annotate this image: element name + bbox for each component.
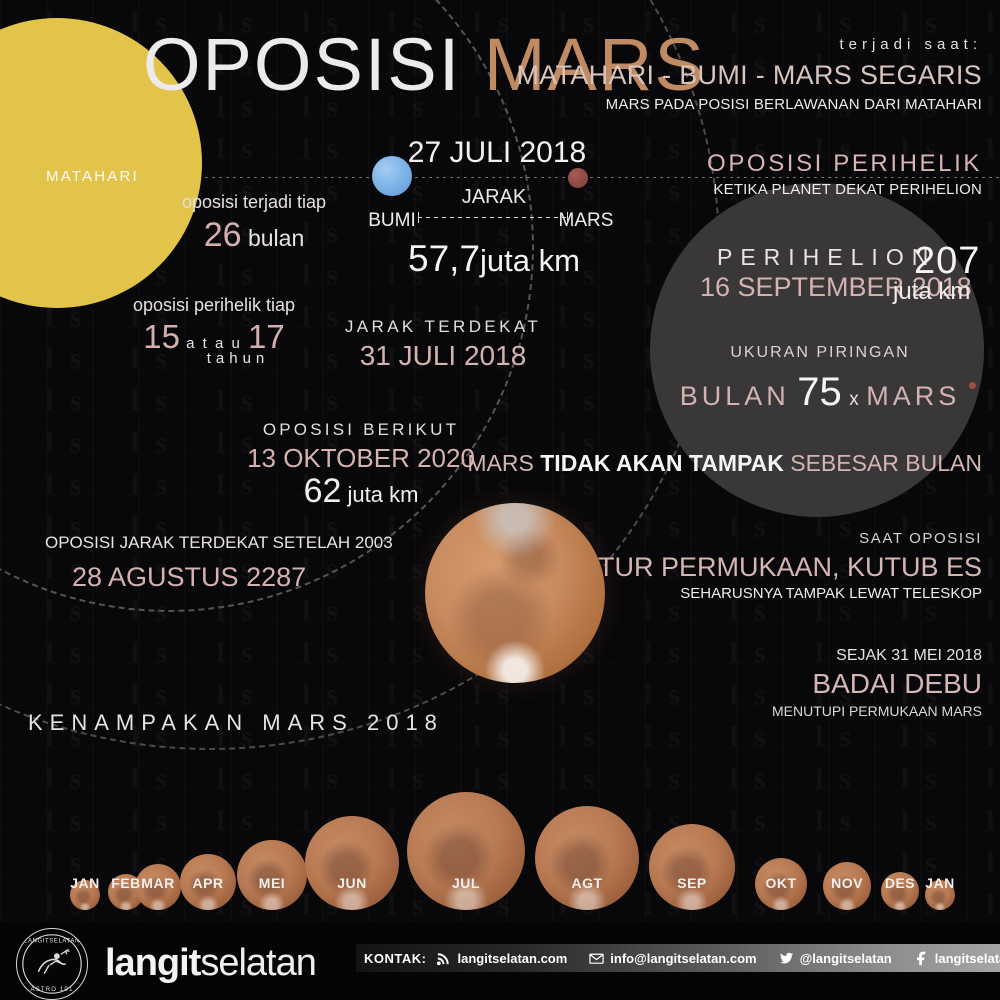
oposisi-berikut-title: OPOSISI BERIKUT bbox=[263, 420, 459, 440]
langitselatan-logo-icon[interactable]: LANGITSELATAN ASTRO 101 bbox=[16, 928, 88, 1000]
header-eyebrow: terjadi saat: bbox=[839, 36, 982, 53]
perihelik-title: OPOSISI PERIHELIK bbox=[707, 150, 982, 178]
month-label-jul-6: JUL bbox=[452, 875, 480, 891]
oposisi-tiap-unit: bulan bbox=[248, 225, 304, 251]
distance-label: JARAK bbox=[462, 186, 526, 209]
perihelik-number-one: 15 bbox=[143, 318, 180, 355]
kontak-label: KONTAK: bbox=[356, 951, 436, 966]
tampak-word-two: TIDAK AKAN TAMPAK bbox=[540, 450, 790, 476]
mars-disc-jun-5 bbox=[305, 816, 399, 910]
contact-link-text: langitselatan bbox=[935, 951, 1000, 966]
perihelik-tiap-label: oposisi perihelik tiap bbox=[133, 295, 295, 316]
mars-disc-jul-6 bbox=[407, 792, 525, 910]
rss-icon bbox=[436, 951, 451, 966]
distance-value-group: 57,7juta km bbox=[408, 238, 580, 280]
contact-link-email[interactable]: info@langitselatan.com bbox=[589, 951, 756, 966]
sun-label: MATAHARI bbox=[46, 168, 139, 185]
contact-link-facebook[interactable]: langitselatan bbox=[914, 951, 1000, 966]
month-label-mei-4: MEI bbox=[259, 875, 285, 891]
ukuran-bulan-label: BULAN bbox=[680, 381, 790, 411]
ukuran-mars-label: MARS bbox=[866, 381, 960, 411]
title-part-one: OPOSISI bbox=[143, 23, 461, 106]
logo-ring-top-text: LANGITSELATAN bbox=[24, 939, 80, 945]
perihelion-unit: juta km bbox=[893, 278, 970, 306]
facebook-icon bbox=[914, 951, 929, 966]
ukuran-times-sign: x bbox=[849, 389, 859, 410]
earth-disc bbox=[372, 156, 412, 196]
tampak-statement: MARS TIDAK AKAN TAMPAK SEBESAR BULAN bbox=[467, 450, 982, 477]
tampak-word-one: MARS bbox=[467, 450, 540, 476]
badai-headline: BADAI DEBU bbox=[812, 668, 982, 700]
month-label-nov-10: NOV bbox=[831, 875, 863, 891]
month-label-jan-0: JAN bbox=[70, 875, 100, 891]
contact-link-text: @langitselatan bbox=[800, 951, 892, 966]
brand-wordmark: langitselatan bbox=[105, 944, 316, 982]
contact-bar: KONTAK: langitselatan.cominfo@langitsela… bbox=[356, 944, 1000, 972]
month-label-mar-2: MAR bbox=[141, 875, 174, 891]
email-icon bbox=[589, 951, 604, 966]
measure-dashes bbox=[418, 217, 568, 218]
fitur-eyebrow: SAAT OPOSISI bbox=[859, 530, 982, 547]
month-label-jan-12: JAN bbox=[925, 875, 955, 891]
header-note: MARS PADA POSISI BERLAWANAN DARI MATAHAR… bbox=[606, 96, 982, 113]
badai-note: MENUTUPI PERMUKAAN MARS bbox=[772, 703, 982, 719]
jarak-terdekat-date: 31 JULI 2018 bbox=[360, 340, 527, 372]
contact-links: langitselatan.cominfo@langitselatan.com@… bbox=[436, 951, 1000, 966]
series-title: KENAMPAKAN MARS 2018 bbox=[28, 710, 444, 736]
month-label-des-11: DES bbox=[885, 875, 915, 891]
month-label-apr-3: APR bbox=[192, 875, 223, 891]
month-label-agt-7: AGT bbox=[571, 875, 602, 891]
distance-measure-bar bbox=[418, 212, 568, 223]
contact-link-text: info@langitselatan.com bbox=[610, 951, 756, 966]
mars-disc-small bbox=[568, 168, 588, 188]
perihelik-tiap-unit: tahun bbox=[207, 350, 270, 367]
brand-part-two: selatan bbox=[200, 942, 316, 984]
perihelion-number: 207 bbox=[914, 240, 980, 283]
contact-link-rss[interactable]: langitselatan.com bbox=[436, 951, 567, 966]
footer: LANGITSELATAN ASTRO 101 langitselatan KO… bbox=[0, 922, 1000, 1000]
twitter-icon bbox=[779, 951, 794, 966]
terdekat-setelah-date: 28 AGUSTUS 2287 bbox=[72, 562, 306, 593]
perihelik-subtitle: KETIKA PLANET DEKAT PERIHELION bbox=[713, 181, 982, 198]
header-headline: MATAHARI - BUMI - MARS SEGARIS bbox=[516, 60, 982, 91]
month-label-feb-1: FEB bbox=[111, 875, 141, 891]
fitur-note: SEHARUSNYA TAMPAK LEWAT TELESKOP bbox=[680, 585, 982, 602]
earth-label: BUMI bbox=[368, 210, 416, 232]
badai-since: SEJAK 31 MEI 2018 bbox=[836, 647, 982, 665]
month-label-sep-8: SEP bbox=[677, 875, 707, 891]
oposisi-berikut-distance: 62 juta km bbox=[304, 472, 419, 511]
ukuran-comparison: BULAN 75 x MARS bbox=[680, 370, 961, 415]
oposisi-berikut-number: 62 bbox=[304, 472, 342, 510]
oposisi-tiap-label: oposisi terjadi tiap bbox=[182, 192, 326, 213]
contact-link-text: langitselatan.com bbox=[457, 951, 567, 966]
oposisi-tiap-number: 26 bbox=[204, 216, 242, 254]
logo-ring-bottom-text: ASTRO 101 bbox=[31, 987, 74, 993]
measure-cap-right bbox=[567, 212, 568, 223]
perihelion-word: PERIHELION bbox=[717, 244, 936, 271]
distance-unit: juta km bbox=[480, 243, 580, 278]
month-label-jun-5: JUN bbox=[337, 875, 367, 891]
ukuran-title: UKURAN PIRINGAN bbox=[730, 344, 909, 362]
brand-part-one: langit bbox=[105, 942, 200, 984]
distance-value: 57,7 bbox=[408, 238, 480, 279]
mars-disc-agt-7 bbox=[535, 806, 639, 910]
oposisi-tiap-value: 26 bulan bbox=[204, 216, 305, 255]
tampak-word-three: SEBESAR BULAN bbox=[790, 450, 982, 476]
mars-hero-image bbox=[425, 503, 605, 683]
fitur-headline: FITUR PERMUKAAN, KUTUB ES bbox=[574, 552, 982, 583]
contact-link-twitter[interactable]: @langitselatan bbox=[779, 951, 892, 966]
ukuran-factor: 75 bbox=[797, 370, 842, 414]
opposition-date: 27 JULI 2018 bbox=[408, 136, 586, 170]
oposisi-berikut-date: 13 OKTOBER 2020 bbox=[247, 443, 475, 474]
mars-disc-sep-8 bbox=[649, 824, 735, 910]
mars-size-dot-icon bbox=[969, 382, 976, 389]
jarak-terdekat-title: JARAK TERDEKAT bbox=[345, 317, 541, 337]
oposisi-berikut-unit: juta km bbox=[348, 482, 419, 507]
infographic-canvas: ls ls ls ls ls ls ls ls ls ls ls ls ls l… bbox=[0, 0, 1000, 1000]
terdekat-setelah-title: OPOSISI JARAK TERDEKAT SETELAH 2003 bbox=[45, 533, 393, 553]
month-label-okt-9: OKT bbox=[765, 875, 796, 891]
